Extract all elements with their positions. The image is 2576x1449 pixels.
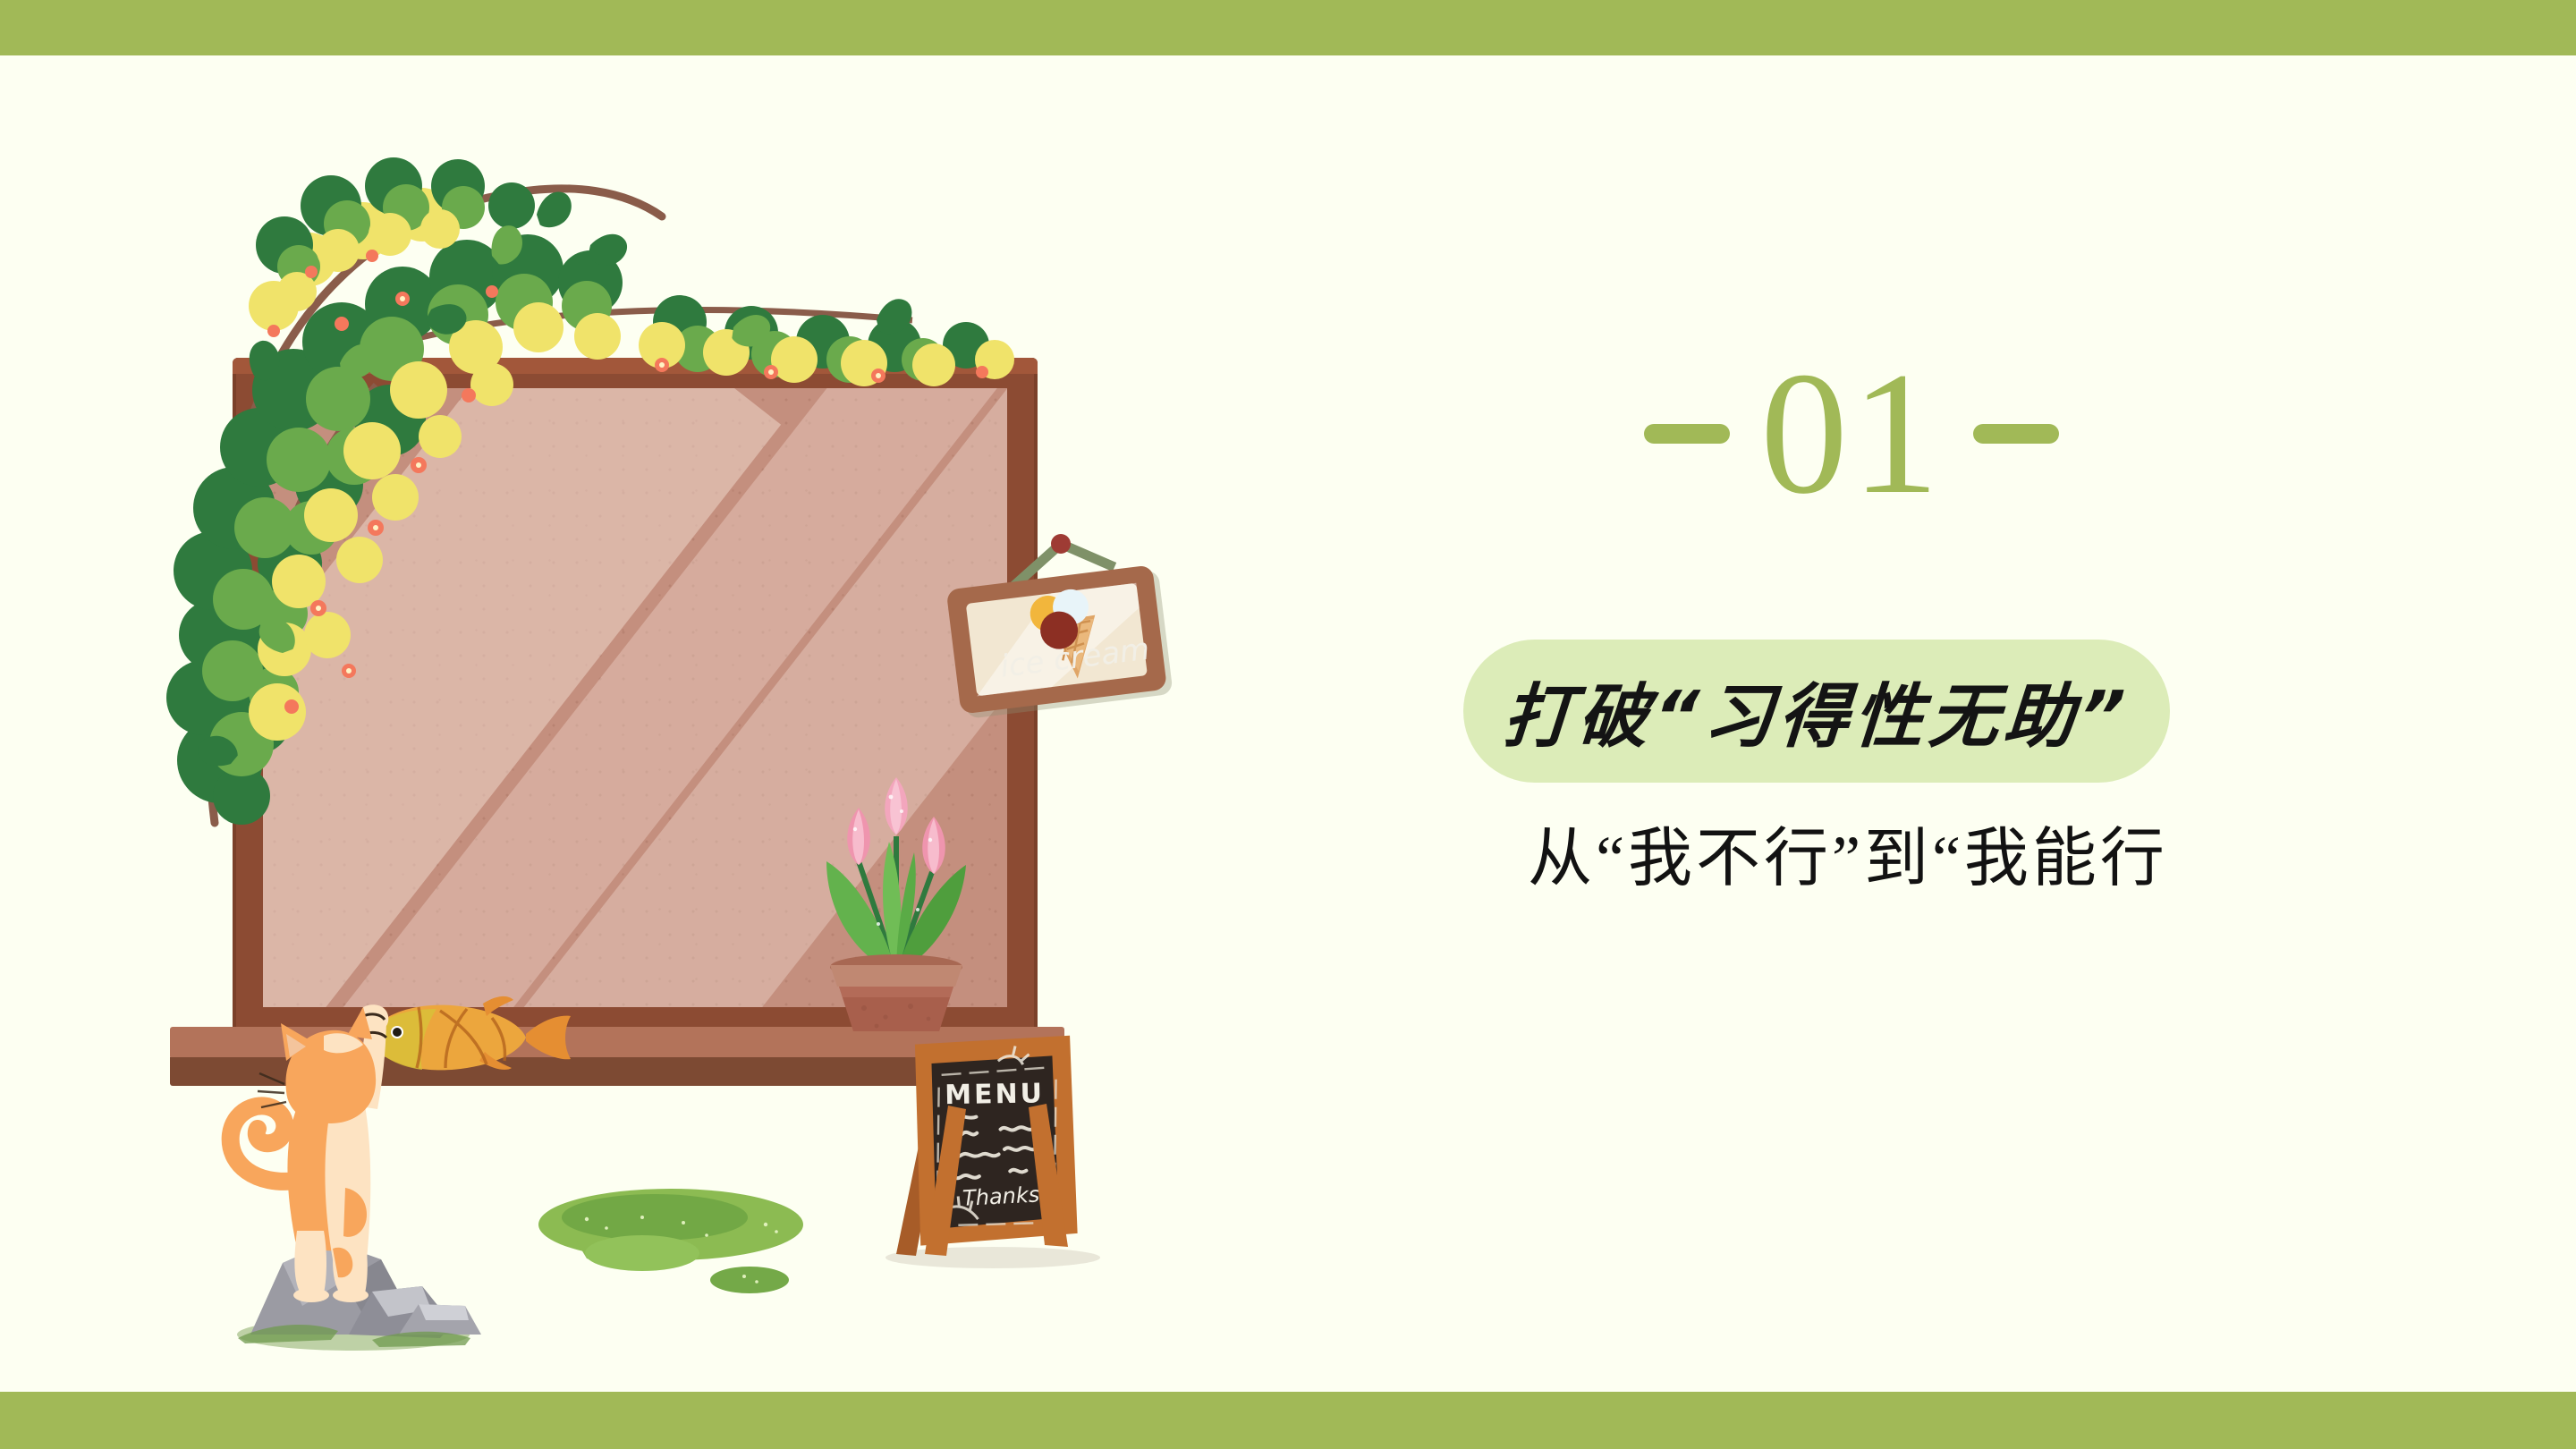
window-pane: [639, 701, 820, 852]
window-pane: [451, 701, 632, 852]
fish: [367, 996, 571, 1071]
section-number: 01: [1760, 346, 1943, 521]
bottom-accent-bar: [0, 1392, 2576, 1449]
hanging-ice-cream-sign[interactable]: ice cream: [939, 528, 1190, 733]
window-pane: [639, 545, 820, 695]
section-title-pill: 打破“习得性无助”: [1463, 640, 2170, 783]
dash-left-icon: [1644, 424, 1730, 444]
chalkboard-menu-board[interactable]: MENU Thanks!: [850, 1002, 1118, 1270]
tulip-flower-pot: [796, 747, 1002, 1033]
window-pane: [263, 388, 445, 538]
top-accent-bar: [0, 0, 2576, 55]
section-title: 打破“习得性无助”: [1500, 661, 2133, 761]
slide-root: ice cream: [0, 0, 2576, 1449]
section-number-group: 01: [1395, 340, 2308, 528]
cat: [231, 1004, 389, 1302]
menu-footer: Thanks!: [962, 1182, 1048, 1211]
window-pane: [826, 388, 1007, 538]
window-pane: [451, 388, 632, 538]
sign-hook-knob: [1051, 534, 1071, 554]
window-pane: [639, 857, 820, 1007]
illustration-artwork: ice cream: [107, 80, 1288, 1351]
window-pane: [639, 388, 820, 538]
grass-puddle: [537, 1176, 823, 1310]
dash-right-icon: [1973, 424, 2059, 444]
window-pane: [263, 545, 445, 695]
section-text-column: 01 打破“习得性无助” 从“我不行”到“我能行: [1395, 340, 2308, 912]
menu-heading: MENU: [945, 1078, 1045, 1111]
section-subtitle: 从“我不行”到“我能行: [1463, 805, 2233, 899]
window-pane: [451, 545, 632, 695]
window-pane: [263, 701, 445, 852]
